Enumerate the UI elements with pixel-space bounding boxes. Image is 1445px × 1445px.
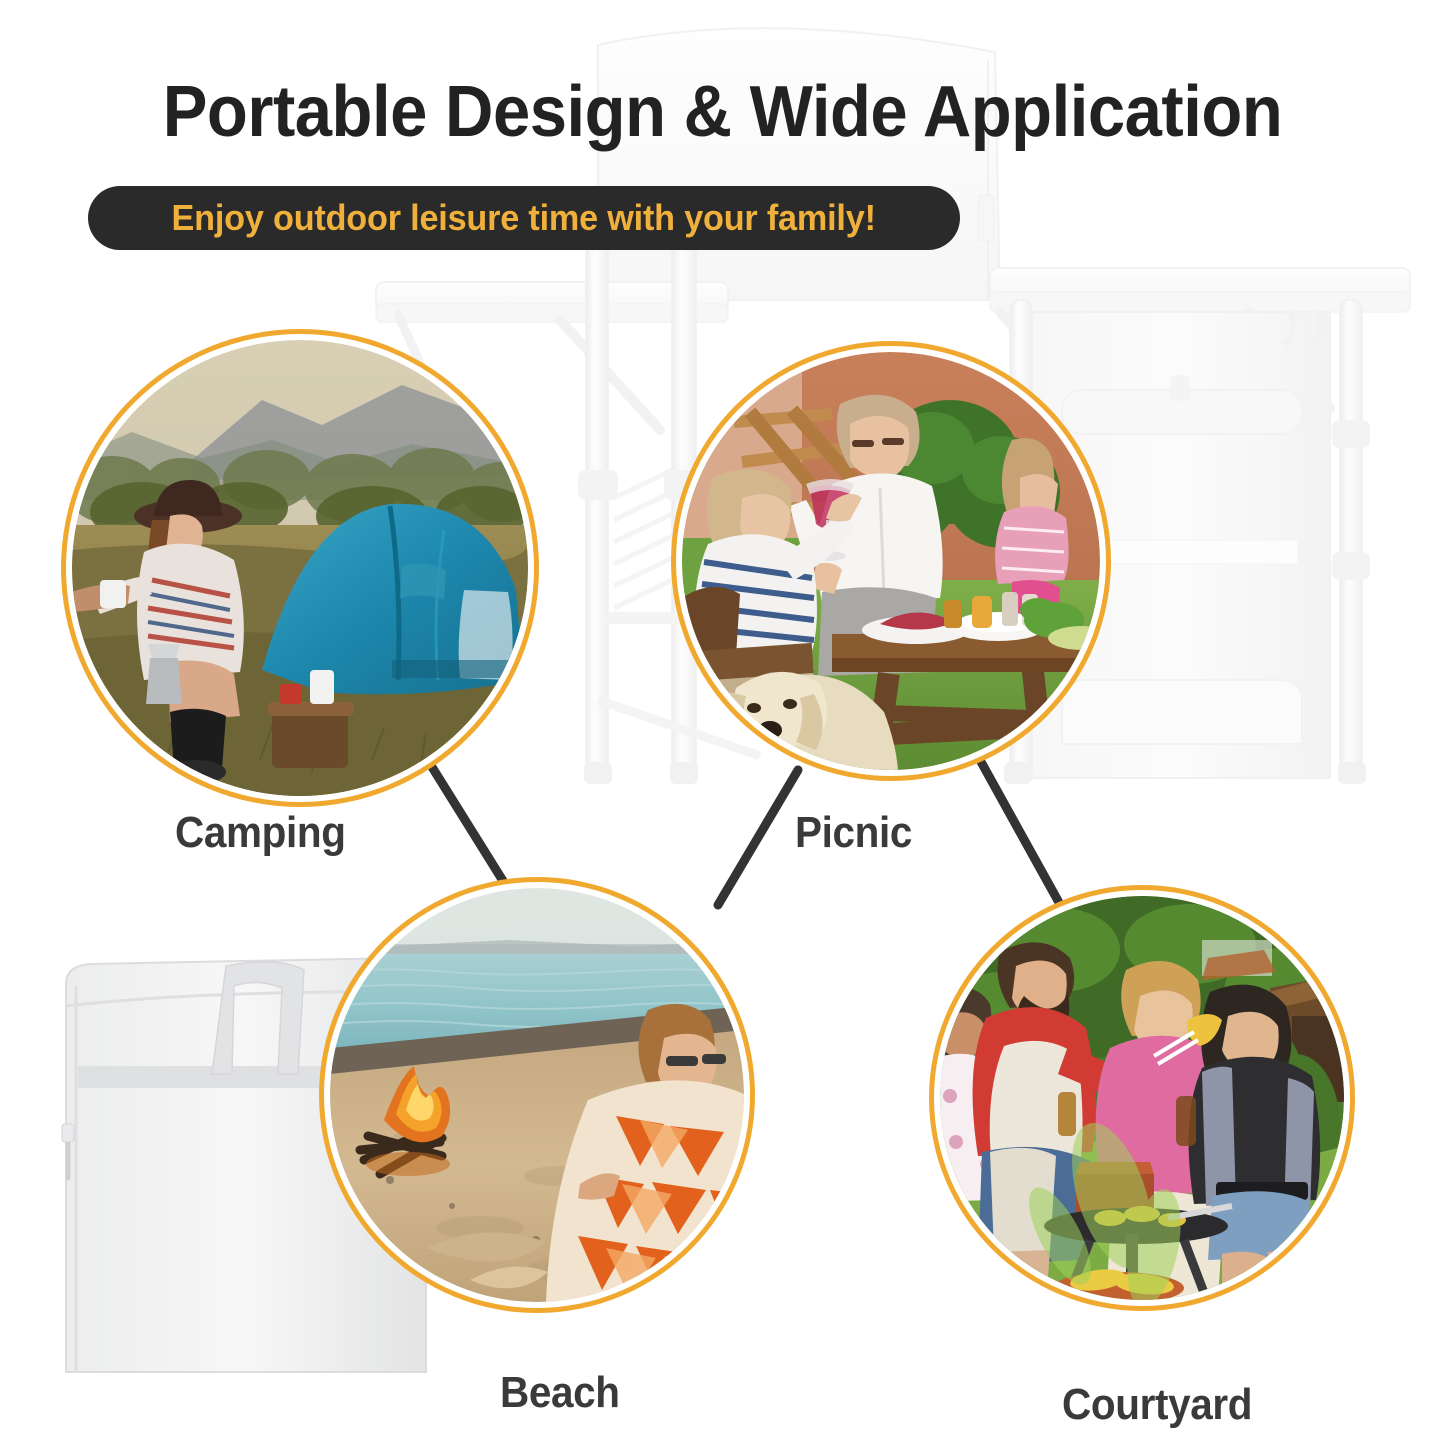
- courtyard-photo: [940, 896, 1344, 1300]
- beach-photo: [330, 888, 744, 1302]
- picnic-photo: [682, 352, 1100, 770]
- subtitle-banner: Enjoy outdoor leisure time with your fam…: [88, 186, 960, 250]
- camping-photo: [72, 340, 528, 796]
- scene-bubble-picnic[interactable]: [682, 352, 1100, 770]
- caption-courtyard: Courtyard: [1062, 1380, 1252, 1430]
- scene-bubble-camping[interactable]: [72, 340, 528, 796]
- caption-camping: Camping: [175, 808, 346, 858]
- subtitle-text: Enjoy outdoor leisure time with your fam…: [172, 197, 876, 239]
- promo-infographic: Camping: [0, 0, 1445, 1445]
- scene-bubble-beach[interactable]: [330, 888, 744, 1302]
- scene-bubble-courtyard[interactable]: [940, 896, 1344, 1300]
- caption-beach: Beach: [500, 1368, 620, 1418]
- page-title: Portable Design & Wide Application: [51, 76, 1395, 148]
- caption-picnic: Picnic: [795, 808, 912, 858]
